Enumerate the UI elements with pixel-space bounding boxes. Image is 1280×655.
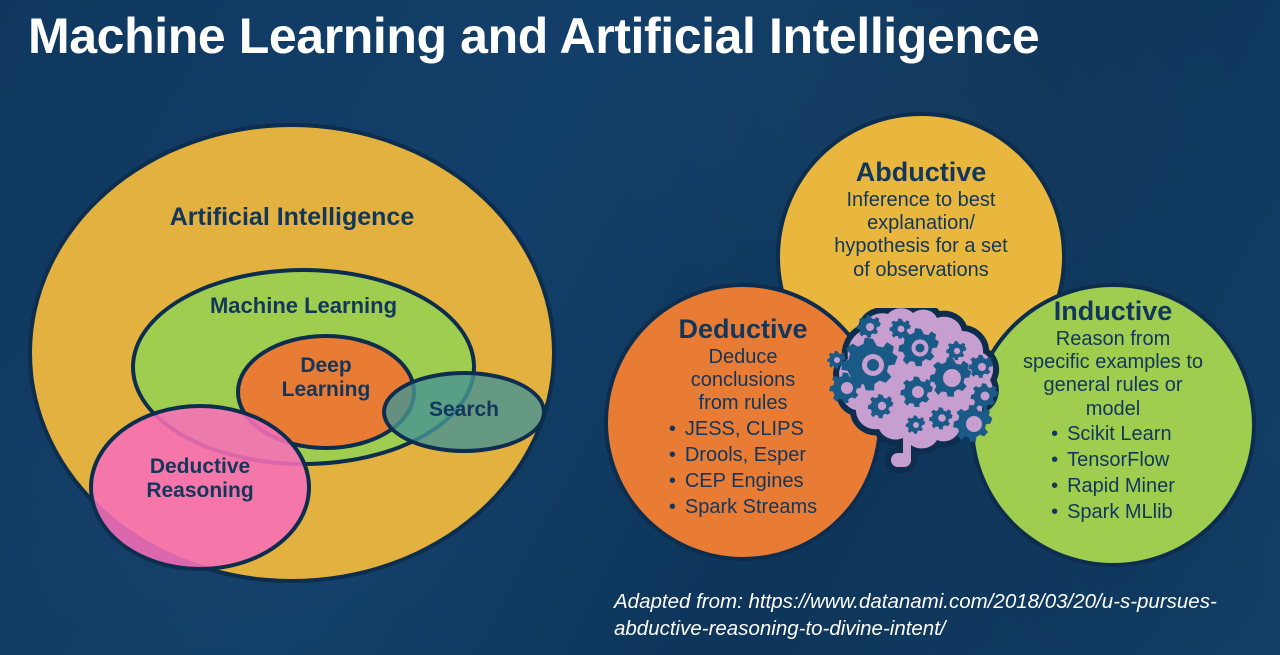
list-item: •TensorFlow: [1051, 447, 1175, 473]
list-item-label: Rapid Miner: [1067, 475, 1175, 497]
list-item: •Rapid Miner: [1051, 473, 1175, 499]
list-item: •Spark MLlib: [1051, 499, 1175, 525]
list-item-label: Spark MLlib: [1067, 501, 1173, 523]
abductive-desc-line: explanation/: [790, 212, 1052, 235]
abductive-description: Inference to best explanation/ hypothesi…: [790, 189, 1052, 283]
inductive-tool-list: •Scikit Learn •TensorFlow •Rapid Miner •…: [1051, 421, 1175, 525]
list-item: •CEP Engines: [669, 468, 817, 494]
list-item-label: CEP Engines: [685, 470, 804, 492]
bullet-icon: •: [1051, 473, 1067, 499]
abductive-content: Abductive Inference to best explanation/…: [790, 158, 1052, 282]
bullet-icon: •: [1051, 447, 1067, 473]
list-item: •Drools, Esper: [669, 442, 817, 468]
machine-learning-label: Machine Learning: [131, 293, 476, 319]
list-item-label: TensorFlow: [1067, 449, 1169, 471]
bullet-icon: •: [669, 416, 685, 442]
search-label: Search: [382, 398, 546, 422]
abductive-desc-line: Inference to best: [790, 189, 1052, 212]
list-item: •Scikit Learn: [1051, 421, 1175, 447]
list-item-label: Scikit Learn: [1067, 423, 1172, 445]
bullet-icon: •: [669, 494, 685, 520]
source-attribution: Adapted from: https://www.datanami.com/2…: [614, 588, 1254, 643]
deep-learning-label: Deep Learning: [236, 354, 416, 403]
abductive-desc-line: of observations: [790, 259, 1052, 282]
abductive-title: Abductive: [790, 158, 1052, 188]
artificial-intelligence-label: Artificial Intelligence: [28, 203, 556, 232]
deductive-tool-list: •JESS, CLIPS •Drools, Esper •CEP Engines…: [669, 416, 817, 520]
bullet-icon: •: [669, 468, 685, 494]
list-item: •Spark Streams: [669, 494, 817, 520]
deductive-reasoning-label-line2: Reasoning: [89, 479, 311, 503]
list-item-label: Drools, Esper: [685, 444, 806, 466]
deep-learning-label-line1: Deep: [236, 354, 416, 378]
abductive-desc-line: hypothesis for a set: [790, 235, 1052, 258]
bullet-icon: •: [1051, 499, 1067, 525]
list-item-label: JESS, CLIPS: [685, 418, 804, 440]
list-item: •JESS, CLIPS: [669, 416, 817, 442]
brain-with-gears-icon: [806, 308, 1022, 474]
bullet-icon: •: [669, 442, 685, 468]
bullet-icon: •: [1051, 421, 1067, 447]
list-item-label: Spark Streams: [685, 496, 817, 518]
page-title: Machine Learning and Artificial Intellig…: [28, 8, 1258, 64]
deductive-reasoning-label: Deductive Reasoning: [89, 455, 311, 504]
slide-canvas: Machine Learning and Artificial Intellig…: [0, 0, 1280, 655]
deductive-reasoning-label-line1: Deductive: [89, 455, 311, 479]
